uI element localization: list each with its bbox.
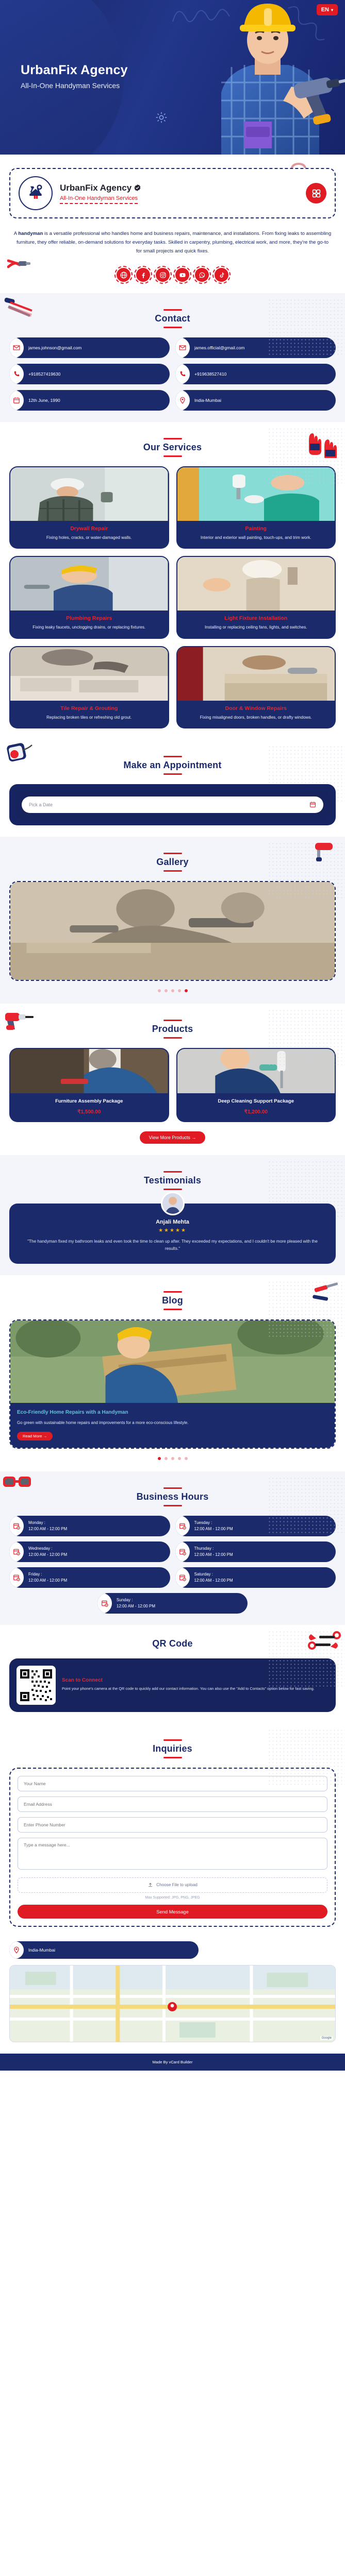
service-desc: Installing or replacing ceiling fans, li… <box>183 624 330 631</box>
hero-text-block: UrbanFix Agency All-In-One Handyman Serv… <box>21 63 128 90</box>
hero-banner: EN ▾ <box>0 0 345 155</box>
contact-value: +919638527410 <box>194 371 226 377</box>
contact-heading: Contact <box>9 309 336 328</box>
brand-name-row: UrbanFix Agency <box>60 183 299 193</box>
qr-scan-title: Scan to Connect <box>62 1677 328 1683</box>
rating-stars: ★★★★★ <box>20 1228 325 1233</box>
map-location-pill[interactable]: India-Mumbai <box>9 1941 199 1959</box>
hours-text: Thursday : 12:00 AM - 12:00 PM <box>194 1546 233 1558</box>
contact-title: Contact <box>9 313 336 324</box>
rule-top <box>163 309 182 311</box>
service-card[interactable]: Light Fixture Installation Installing or… <box>176 556 336 638</box>
service-name: Door & Window Repairs <box>183 705 330 711</box>
read-more-button[interactable]: Read More → <box>17 1432 53 1440</box>
inquiries-section: Inquiries Choose File to upload Max Supp… <box>0 1723 345 1938</box>
map-graphic <box>10 1965 335 2042</box>
hours-day: Monday : <box>28 1520 67 1526</box>
about-body: is a versatile professional who handles … <box>17 231 331 254</box>
gallery-photo <box>10 882 335 980</box>
hours-time: 12:00 AM - 12:00 PM <box>194 1526 233 1532</box>
blog-dot[interactable] <box>185 1457 188 1460</box>
product-photo <box>10 1049 168 1093</box>
product-card[interactable]: Furniture Assembly Package ₹1,500.00 <box>9 1048 169 1122</box>
hours-text: Saturday : 12:00 AM - 12:00 PM <box>194 1571 233 1584</box>
hammer-wrench-house-icon <box>25 183 46 204</box>
hours-title: Business Hours <box>9 1492 336 1502</box>
product-name: Furniture Assembly Package <box>14 1098 164 1105</box>
products-section: Products Furniture Assembly Package ₹1,5… <box>0 1004 345 1155</box>
qr-card: Scan to Connect Point your phone's camer… <box>9 1658 336 1712</box>
blog-dot[interactable] <box>171 1457 174 1460</box>
service-name: Plumbing Repairs <box>15 615 163 621</box>
hours-time: 12:00 AM - 12:00 PM <box>194 1552 233 1558</box>
service-card[interactable]: Tile Repair & Grouting Replacing broken … <box>9 646 169 728</box>
appointment-inner: Pick a Date <box>15 790 330 819</box>
youtube-icon[interactable] <box>175 268 189 282</box>
location-icon <box>9 1941 24 1959</box>
product-card[interactable]: Deep Cleaning Support Package ₹1,200.00 <box>176 1048 336 1122</box>
service-body: Drywall Repair Fixing holes, cracks, or … <box>10 521 168 548</box>
hours-day: Thursday : <box>194 1546 233 1552</box>
product-body: Furniture Assembly Package ₹1,500.00 <box>10 1093 168 1121</box>
service-card[interactable]: Door & Window Repairs Fixing misaligned … <box>176 646 336 728</box>
calendar-clock-icon <box>9 1567 24 1588</box>
calendar-clock-icon <box>97 1593 112 1614</box>
hours-time: 12:00 AM - 12:00 PM <box>117 1603 155 1609</box>
qr-shortcut-button[interactable] <box>306 183 326 204</box>
identity-card-section: UrbanFix Agency All-In-One Handyman Serv… <box>0 155 345 223</box>
hours-text: Monday : 12:00 AM - 12:00 PM <box>28 1520 67 1532</box>
website-icon[interactable] <box>117 268 130 282</box>
gallery-dot[interactable] <box>165 989 168 992</box>
rule-bottom <box>163 1505 182 1506</box>
gear-icon <box>155 111 168 124</box>
testimonial-quote: "The handyman fixed my bathroom leaks an… <box>20 1238 325 1253</box>
contact-value: 12th June, 1990 <box>28 398 60 403</box>
blog-dot[interactable] <box>178 1457 181 1460</box>
whatsapp-icon[interactable] <box>195 268 209 282</box>
blog-heading: Blog <box>9 1291 336 1310</box>
products-grid: Furniture Assembly Package ₹1,500.00 Dee… <box>9 1048 336 1122</box>
product-body: Deep Cleaning Support Package ₹1,200.00 <box>177 1093 335 1121</box>
product-price: ₹1,200.00 <box>182 1109 331 1115</box>
contact-item-phone-1[interactable]: +918527419630 <box>9 364 170 384</box>
blog-title: Blog <box>9 1295 336 1306</box>
rule-bottom <box>163 870 182 872</box>
date-picker-field[interactable]: Pick a Date <box>22 796 323 813</box>
hours-day: Tuesday : <box>194 1520 233 1526</box>
language-label: EN <box>321 7 329 13</box>
testimonials-title: Testimonials <box>9 1175 336 1186</box>
service-photo <box>177 647 335 701</box>
gallery-section: Gallery <box>0 837 345 1004</box>
qr-code-image[interactable] <box>17 1666 56 1705</box>
testimonials-section: Testimonials Anjali Mehta ★★★★★ "The han… <box>0 1155 345 1276</box>
service-desc: Fixing holes, cracks, or water-damaged w… <box>15 534 163 541</box>
gallery-dot[interactable] <box>158 989 161 992</box>
hours-row-saturday: Saturday : 12:00 AM - 12:00 PM <box>175 1567 336 1588</box>
qr-title: QR Code <box>9 1638 336 1649</box>
qr-code-graphic <box>19 1668 53 1702</box>
calendar-clock-icon <box>175 1541 190 1562</box>
service-card[interactable]: Drywall Repair Fixing holes, cracks, or … <box>9 466 169 549</box>
hours-day: Wednesday : <box>28 1546 67 1552</box>
service-photo <box>10 647 168 701</box>
hours-text: Wednesday : 12:00 AM - 12:00 PM <box>28 1546 67 1558</box>
hours-text: Tuesday : 12:00 AM - 12:00 PM <box>194 1520 233 1532</box>
inquiry-form: Choose File to upload Max Supported: JPG… <box>9 1768 336 1927</box>
hours-text: Friday : 12:00 AM - 12:00 PM <box>28 1571 67 1584</box>
rule-top <box>163 1487 182 1489</box>
rule-bottom <box>163 1189 182 1190</box>
appointment-section: Make an Appointment Pick a Date <box>0 740 345 837</box>
calendar-clock-icon <box>9 1541 24 1562</box>
brand-name: UrbanFix Agency <box>60 183 132 193</box>
map-section: India-Mumbai Google <box>0 1938 345 2054</box>
hours-time: 12:00 AM - 12:00 PM <box>28 1552 67 1558</box>
location-icon <box>175 390 190 411</box>
hours-time: 12:00 AM - 12:00 PM <box>28 1578 67 1584</box>
phone-field[interactable] <box>18 1817 327 1833</box>
contact-item-location[interactable]: India-Mumbai <box>175 390 336 411</box>
hours-time: 12:00 AM - 12:00 PM <box>194 1578 233 1584</box>
view-more-products-button[interactable]: View More Products → <box>140 1131 206 1144</box>
avatar <box>161 1192 185 1215</box>
upload-icon <box>147 1882 153 1888</box>
service-photo <box>10 467 168 521</box>
service-body: Plumbing Repairs Fixing leaky faucets, u… <box>10 611 168 637</box>
calendar-clock-icon <box>9 1516 24 1536</box>
tiktok-icon[interactable] <box>215 268 228 282</box>
rule-bottom <box>163 773 182 775</box>
map-embed[interactable]: Google <box>9 1965 336 2042</box>
service-desc: Replacing broken tiles or refreshing old… <box>15 714 163 721</box>
hours-row-thursday: Thursday : 12:00 AM - 12:00 PM <box>175 1541 336 1562</box>
hours-day: Saturday : <box>194 1571 233 1578</box>
contact-value: +918527419630 <box>28 371 60 377</box>
brand-tagline: All-In-One Handyman Services <box>60 195 138 204</box>
blog-post-title: Eco-Friendly Home Repairs with a Handyma… <box>17 1409 328 1416</box>
rule-bottom <box>163 1757 182 1758</box>
service-photo <box>177 467 335 521</box>
inquiries-heading: Inquiries <box>9 1739 336 1758</box>
blog-dot-active[interactable] <box>158 1457 161 1460</box>
calendar-icon <box>9 390 24 411</box>
name-field[interactable] <box>18 1776 327 1791</box>
services-section: Our Services Drywall Repair Fixing holes… <box>0 422 345 739</box>
hero-handyman-photo <box>190 0 345 155</box>
appointment-box: Pick a Date <box>9 784 336 825</box>
contact-value: India-Mumbai <box>194 398 221 403</box>
chevron-down-icon: ▾ <box>331 8 333 12</box>
file-upload-label: Choose File to upload <box>156 1883 198 1887</box>
file-upload-hint: Max Supported: JPG, PNG, JPEG <box>18 1896 327 1900</box>
footer-text: Made By vCard Builder <box>152 2060 192 2064</box>
hero-title: UrbanFix Agency <box>21 63 128 78</box>
product-name: Deep Cleaning Support Package <box>182 1098 331 1105</box>
qr-scan-desc: Point your phone's camera at the QR code… <box>62 1686 328 1692</box>
service-body: Door & Window Repairs Fixing misaligned … <box>177 701 335 727</box>
service-body: Light Fixture Installation Installing or… <box>177 611 335 637</box>
blog-dot[interactable] <box>165 1457 168 1460</box>
rule-top <box>163 438 182 439</box>
service-name: Tile Repair & Grouting <box>15 705 163 711</box>
testimonials-heading: Testimonials <box>9 1171 336 1190</box>
hours-text: Sunday : 12:00 AM - 12:00 PM <box>117 1597 155 1609</box>
rule-bottom <box>163 327 182 328</box>
blog-body: Eco-Friendly Home Repairs with a Handyma… <box>10 1403 335 1447</box>
blog-post-desc: Go green with sustainable home repairs a… <box>17 1419 328 1426</box>
gallery-title: Gallery <box>9 857 336 868</box>
service-body: Painting Interior and exterior wall pain… <box>177 521 335 548</box>
map-location-text: India-Mumbai <box>28 1947 55 1953</box>
products-heading: Products <box>9 1020 336 1039</box>
hours-row-monday: Monday : 12:00 AM - 12:00 PM <box>9 1516 170 1536</box>
blog-section: Blog Eco-Friendly Home Repairs with a Ha… <box>0 1275 345 1471</box>
rule-bottom <box>163 1309 182 1310</box>
rule-top <box>163 1739 182 1741</box>
calendar-clock-icon <box>175 1516 190 1536</box>
gallery-dot[interactable] <box>178 989 181 992</box>
testimonial-card: Anjali Mehta ★★★★★ "The handyman fixed m… <box>9 1204 336 1264</box>
message-field[interactable] <box>18 1838 327 1870</box>
testimonial-author: Anjali Mehta <box>20 1219 325 1225</box>
contact-item-email-1[interactable]: james.johnson@gmail.com <box>9 337 170 358</box>
hours-row-tuesday: Tuesday : 12:00 AM - 12:00 PM <box>175 1516 336 1536</box>
vcard-page: EN ▾ <box>0 0 345 2071</box>
services-title: Our Services <box>9 442 336 453</box>
product-photo <box>177 1049 335 1093</box>
service-body: Tile Repair & Grouting Replacing broken … <box>10 701 168 727</box>
hero-subtitle: All-In-One Handyman Services <box>21 81 128 90</box>
identity-card: UrbanFix Agency All-In-One Handyman Serv… <box>9 168 336 218</box>
contact-value: james.official@gmail.com <box>194 345 244 350</box>
gallery-frame[interactable] <box>9 881 336 981</box>
blog-card[interactable]: Eco-Friendly Home Repairs with a Handyma… <box>9 1319 336 1448</box>
rule-top <box>163 756 182 757</box>
gallery-heading: Gallery <box>9 853 336 872</box>
rule-top <box>163 853 182 854</box>
file-upload-row[interactable]: Choose File to upload <box>18 1877 327 1893</box>
service-name: Drywall Repair <box>15 526 163 532</box>
service-card[interactable]: Plumbing Repairs Fixing leaky faucets, u… <box>9 556 169 638</box>
service-desc: Fixing leaky faucets, unclogging drains,… <box>15 624 163 631</box>
rule-bottom <box>163 1037 182 1039</box>
brand-logo <box>19 176 53 210</box>
rule-top <box>163 1171 182 1173</box>
appointment-heading: Make an Appointment <box>9 756 336 775</box>
qr-icon <box>312 189 321 198</box>
service-card[interactable]: Painting Interior and exterior wall pain… <box>176 466 336 549</box>
gallery-dot[interactable] <box>171 989 174 992</box>
business-hours-section: Business Hours Monday : 12:00 AM - 12:00… <box>0 1471 345 1625</box>
blog-dots <box>9 1449 336 1460</box>
product-price: ₹1,500.00 <box>14 1109 164 1115</box>
products-title: Products <box>9 1024 336 1035</box>
about-description: A handyman is a versatile professional w… <box>0 223 345 265</box>
facebook-icon[interactable] <box>136 268 150 282</box>
send-message-button[interactable]: Send Message <box>18 1905 327 1919</box>
blog-photo <box>10 1320 335 1403</box>
service-photo <box>177 557 335 611</box>
email-field[interactable] <box>18 1797 327 1812</box>
contact-grid: james.johnson@gmail.com james.official@g… <box>9 337 336 411</box>
rule-top <box>163 1020 182 1021</box>
hours-day: Sunday : <box>117 1597 155 1603</box>
contact-item-birthdate[interactable]: 12th June, 1990 <box>9 390 170 411</box>
service-desc: Interior and exterior wall painting, tou… <box>183 534 330 541</box>
phone-icon <box>175 364 190 384</box>
date-placeholder: Pick a Date <box>29 802 53 807</box>
hours-day: Friday : <box>28 1571 67 1578</box>
language-selector[interactable]: EN ▾ <box>317 4 338 15</box>
calendar-clock-icon <box>175 1567 190 1588</box>
email-icon <box>9 337 24 358</box>
hours-row-sunday: Sunday : 12:00 AM - 12:00 PM <box>97 1593 248 1614</box>
about-bold-term: handyman <box>18 231 43 236</box>
inquiries-title: Inquiries <box>9 1743 336 1754</box>
qr-text-side: Scan to Connect Point your phone's camer… <box>62 1677 328 1692</box>
contact-item-email-2[interactable]: james.official@gmail.com <box>175 337 336 358</box>
service-photo <box>10 557 168 611</box>
contact-item-phone-2[interactable]: +919638527410 <box>175 364 336 384</box>
instagram-icon[interactable] <box>156 268 170 282</box>
qr-section: QR Code <box>0 1625 345 1723</box>
contact-value: james.johnson@gmail.com <box>28 345 81 350</box>
email-icon <box>175 337 190 358</box>
hours-sunday-wrap: Sunday : 12:00 AM - 12:00 PM <box>9 1593 336 1614</box>
rule-bottom <box>163 455 182 457</box>
contact-section: Contact james.johnson@gmail.com james.of… <box>0 293 345 422</box>
rule-top <box>163 1291 182 1293</box>
gallery-dot-active[interactable] <box>185 989 188 992</box>
brand-block: UrbanFix Agency All-In-One Handyman Serv… <box>60 183 299 204</box>
footer: Made By vCard Builder <box>0 2054 345 2071</box>
hours-row-wednesday: Wednesday : 12:00 AM - 12:00 PM <box>9 1541 170 1562</box>
hours-time: 12:00 AM - 12:00 PM <box>28 1526 67 1532</box>
phone-icon <box>9 364 24 384</box>
calendar-icon <box>309 801 316 808</box>
qr-heading: QR Code <box>9 1638 336 1649</box>
service-desc: Fixing misaligned doors, broken handles,… <box>183 714 330 721</box>
map-attribution: Google <box>320 2036 333 2040</box>
avatar-photo <box>162 1193 183 1214</box>
hours-row-friday: Friday : 12:00 AM - 12:00 PM <box>9 1567 170 1588</box>
verified-badge-icon <box>134 184 141 191</box>
services-grid: Drywall Repair Fixing holes, cracks, or … <box>9 466 336 728</box>
service-name: Painting <box>183 526 330 532</box>
hours-grid: Monday : 12:00 AM - 12:00 PM Tuesday : 1… <box>9 1516 336 1588</box>
social-links-row <box>0 265 345 293</box>
service-name: Light Fixture Installation <box>183 615 330 621</box>
services-heading: Our Services <box>9 438 336 457</box>
hours-heading: Business Hours <box>9 1487 336 1506</box>
gallery-dots <box>9 981 336 992</box>
appointment-title: Make an Appointment <box>9 760 336 771</box>
